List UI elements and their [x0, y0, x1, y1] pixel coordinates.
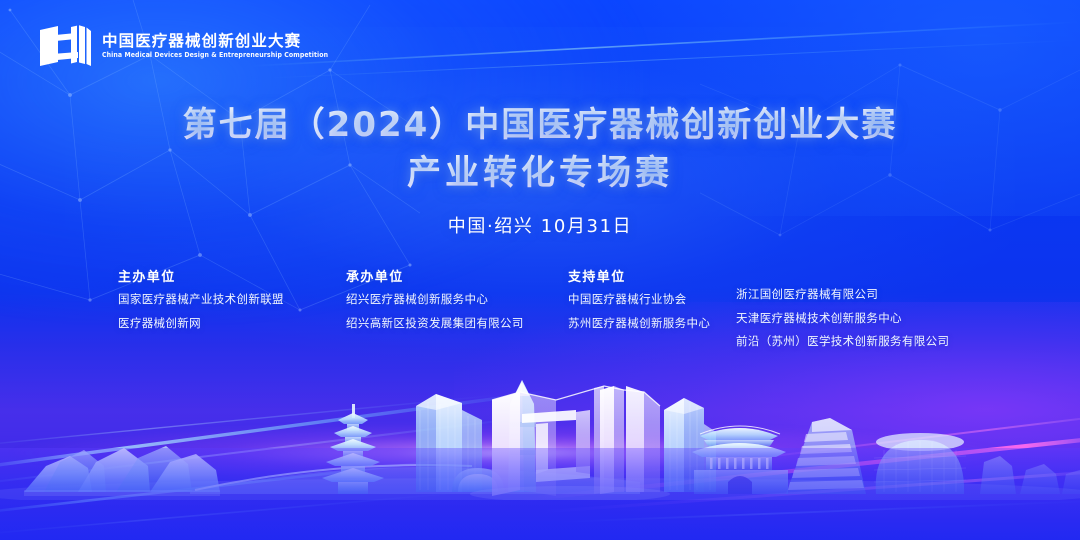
competition-logo: 中国医疗器械创新创业大赛 China Medical Devices Desig… — [38, 22, 338, 70]
organizer-item: 国家医疗器械产业技术创新联盟 — [118, 294, 346, 306]
event-banner: 中国医疗器械创新创业大赛 China Medical Devices Desig… — [0, 0, 1080, 540]
logo-text-block: 中国医疗器械创新创业大赛 China Medical Devices Desig… — [102, 33, 338, 59]
organizer-item: 中国医疗器械行业协会 — [568, 294, 736, 306]
organizers-block: 主办单位 国家医疗器械产业技术创新联盟 医疗器械创新网 承办单位 绍兴医疗器械创… — [118, 266, 996, 348]
foreground-floor — [0, 448, 1080, 540]
organizer-column-support: 支持单位 中国医疗器械行业协会 苏州医疗器械创新服务中心 — [568, 266, 736, 329]
organizer-heading: 承办单位 — [346, 266, 568, 285]
organizer-item: 苏州医疗器械创新服务中心 — [568, 318, 736, 330]
open-book-door-logo-icon — [38, 22, 92, 70]
organizer-column-support-continued: 浙江国创医疗器械有限公司 天津医疗器械技术创新服务中心 前沿（苏州）医学技术创新… — [736, 266, 996, 348]
organizer-item: 绍兴高新区投资发展集团有限公司 — [346, 318, 568, 330]
title-line-2: 产业转化专场赛 — [0, 152, 1080, 194]
logo-english-name: China Medical Devices Design & Entrepren… — [102, 51, 328, 59]
organizer-item: 绍兴医疗器械创新服务中心 — [346, 294, 568, 306]
organizer-heading: 主办单位 — [118, 266, 346, 285]
organizer-item: 医疗器械创新网 — [118, 318, 346, 330]
organizer-heading: 支持单位 — [568, 266, 736, 285]
organizer-column-organizer: 承办单位 绍兴医疗器械创新服务中心 绍兴高新区投资发展集团有限公司 — [346, 266, 568, 329]
organizer-item: 浙江国创医疗器械有限公司 — [736, 289, 996, 301]
organizer-item: 前沿（苏州）医学技术创新服务有限公司 — [736, 336, 996, 348]
title-block: 第七届（2024）中国医疗器械创新创业大赛 产业转化专场赛 中国·绍兴 10月3… — [0, 104, 1080, 238]
logo-chinese-name: 中国医疗器械创新创业大赛 — [102, 33, 338, 49]
title-line-1: 第七届（2024）中国医疗器械创新创业大赛 — [0, 104, 1080, 146]
organizer-item: 天津医疗器械技术创新服务中心 — [736, 313, 996, 325]
organizer-column-host: 主办单位 国家医疗器械产业技术创新联盟 医疗器械创新网 — [118, 266, 346, 329]
event-location-date: 中国·绍兴 10月31日 — [0, 212, 1080, 238]
